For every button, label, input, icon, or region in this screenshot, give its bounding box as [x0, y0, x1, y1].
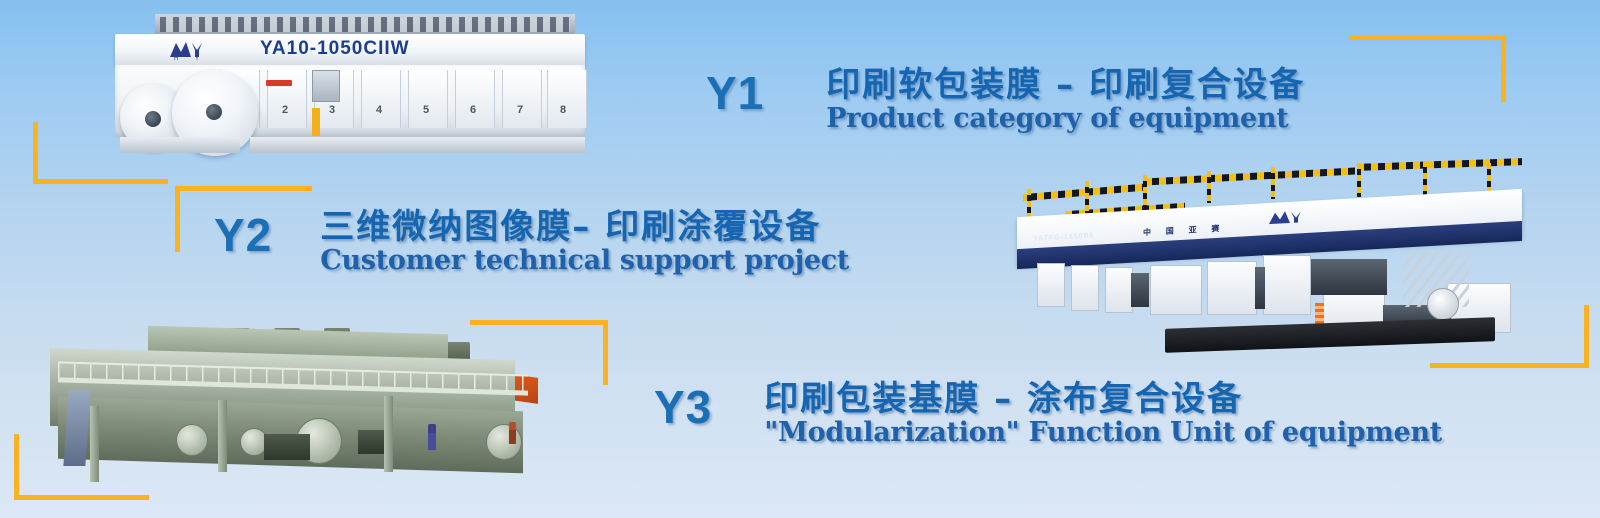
bracket-y1-right-vertical — [1501, 35, 1506, 102]
safety-guardrail — [1145, 167, 1355, 185]
process-unit — [1263, 255, 1311, 315]
bracket-y1-left-horizontal — [33, 179, 168, 184]
entry-code-y3: Y3 — [654, 384, 712, 430]
svg-text:H: H — [174, 56, 178, 62]
bracket-bottom-left-horizontal — [14, 495, 149, 500]
bracket-y1-right-horizontal — [1349, 35, 1506, 40]
machine-photo-gravure-printing-press: H Y YA10-1050CIIW 1 2 3 4 5 6 7 8 — [60, 8, 595, 173]
process-unit — [1037, 263, 1065, 307]
machine-base — [1165, 317, 1495, 353]
machine-model-label: YA10-1050CIIW — [260, 38, 410, 60]
safety-guardrail — [1023, 184, 1143, 201]
process-unit — [1150, 265, 1202, 315]
winder-roll — [1427, 288, 1459, 320]
unit-number: 2 — [282, 104, 288, 116]
print-unit — [361, 70, 401, 128]
print-unit — [455, 70, 495, 128]
machine-housing — [264, 434, 310, 460]
machine-base — [120, 137, 240, 153]
support-pillar — [384, 396, 393, 472]
guardrail-post — [1027, 189, 1031, 219]
unit-number: 5 — [423, 104, 429, 116]
product-category-banner: H Y YA10-1050CIIW 1 2 3 4 5 6 7 8 — [0, 0, 1600, 518]
entry-title-en-y3: "Modularization" Function Unit of equipm… — [764, 418, 1442, 448]
entry-y1: Y1 印刷软包装膜 – 印刷复合设备 Product category of e… — [706, 70, 1305, 134]
unit-number: 3 — [329, 104, 335, 116]
bracket-y1-left-vertical — [33, 122, 38, 184]
print-unit — [267, 70, 307, 128]
machine-base — [250, 137, 585, 153]
drying-drum — [486, 424, 522, 460]
guardrail-post — [1085, 181, 1089, 213]
drying-drum — [176, 424, 208, 456]
unit-number: 6 — [470, 104, 476, 116]
guardrail-post — [1357, 163, 1361, 197]
print-unit — [547, 70, 587, 128]
entry-code-y2: Y2 — [214, 212, 272, 258]
print-unit — [502, 70, 542, 128]
operator-figure — [509, 422, 516, 444]
entry-y2: Y2 三维微纳图像膜– 印刷涂覆设备 Customer technical su… — [214, 212, 849, 276]
entry-title-en-y1: Product category of equipment — [826, 104, 1305, 134]
entry-y3: Y3 印刷包装基膜 – 涂布复合设备 "Modularization" Func… — [654, 384, 1442, 448]
machine-photo-coating-laminating-line: YATFG-1650BⅡ 中 国 亚 赛 — [975, 155, 1555, 360]
bracket-y2-right-vertical — [1584, 305, 1589, 368]
roll-hub — [206, 104, 222, 120]
unit-number: 7 — [517, 104, 523, 116]
safety-guardrail — [1357, 158, 1522, 171]
red-marker — [266, 80, 292, 86]
drying-tunnel — [1311, 259, 1387, 295]
bracket-bottom-left-vertical — [14, 434, 19, 500]
entry-code-y1: Y1 — [706, 70, 764, 116]
unit-number: 4 — [376, 104, 382, 116]
bracket-y3-vertical — [603, 320, 608, 385]
print-unit — [408, 70, 448, 128]
guardrail-post — [1143, 175, 1147, 209]
svg-text:Y: Y — [195, 56, 199, 62]
process-unit — [1207, 261, 1257, 315]
process-unit — [1105, 267, 1133, 313]
entry-title-cn-y2: 三维微纳图像膜– 印刷涂覆设备 — [320, 208, 849, 246]
entry-title-cn-y1: 印刷软包装膜 – 印刷复合设备 — [826, 66, 1305, 104]
bracket-y2-right-horizontal — [1430, 363, 1589, 368]
support-pillar — [90, 406, 99, 482]
bracket-y2-horizontal — [175, 186, 312, 191]
hy-logo-icon: H Y — [168, 38, 212, 62]
guardrail-post — [1423, 161, 1427, 197]
process-unit — [1071, 265, 1099, 311]
control-panel — [312, 70, 340, 102]
machine-top-detail — [160, 17, 570, 32]
unit-number: 8 — [560, 104, 566, 116]
drive-mechanism — [1131, 273, 1149, 307]
roll-hub — [145, 111, 161, 127]
bracket-y2-vertical — [175, 186, 180, 252]
entry-title-cn-y3: 印刷包装基膜 – 涂布复合设备 — [764, 380, 1442, 418]
machine-photo-base-film-machine — [28, 312, 573, 497]
guardrail-post — [1207, 171, 1211, 203]
support-pillar — [218, 400, 227, 472]
hy-logo-icon — [1267, 208, 1311, 227]
operator-figure — [428, 424, 436, 450]
bracket-y3-horizontal — [470, 320, 608, 325]
drive-mechanism — [1255, 267, 1265, 309]
guardrail-post — [1271, 167, 1275, 199]
yellow-cylinder — [312, 108, 320, 136]
entry-title-en-y2: Customer technical support project — [320, 246, 849, 276]
